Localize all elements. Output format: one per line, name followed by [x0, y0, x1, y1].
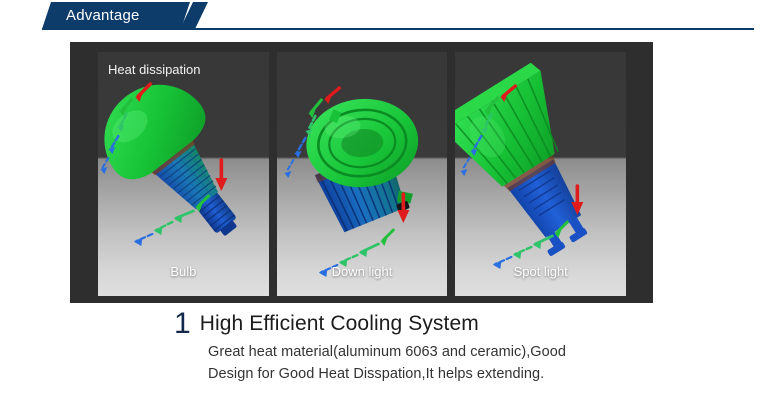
feature-body-line-2: Design for Good Heat Disspation,It helps…: [208, 363, 734, 385]
advantage-slide: Advantage Heat dissipation: [0, 0, 774, 404]
banner-label: Advantage: [42, 8, 140, 23]
product-cell-spot-light: Spot light: [455, 52, 626, 296]
feature-body-line-1: Great heat material(aluminum 6063 and ce…: [208, 341, 734, 363]
led-spot-light-illustration: [455, 52, 626, 296]
led-down-light-illustration: [277, 52, 448, 296]
product-showcase-panel: Heat dissipation: [70, 42, 653, 303]
product-caption-spot-light: Spot light: [455, 265, 626, 278]
feature-body: Great heat material(aluminum 6063 and ce…: [174, 337, 734, 385]
led-bulb-illustration: [98, 52, 269, 296]
product-grid: Heat dissipation: [98, 52, 626, 296]
product-caption-down-light: Down light: [277, 265, 448, 278]
feature-copy-block: 1 High Efficient Cooling System Great he…: [174, 311, 734, 385]
product-caption-bulb: Bulb: [98, 265, 269, 278]
feature-headline: High Efficient Cooling System: [200, 311, 479, 337]
product-cell-bulb: Heat dissipation: [98, 52, 269, 296]
banner-tab: Advantage: [42, 2, 190, 29]
feature-numeral: 1: [174, 311, 200, 337]
banner-underline-rule: [42, 28, 754, 30]
feature-headline-row: 1 High Efficient Cooling System: [174, 311, 734, 337]
product-cell-down-light: Down light: [277, 52, 448, 296]
section-banner: Advantage: [0, 0, 774, 36]
